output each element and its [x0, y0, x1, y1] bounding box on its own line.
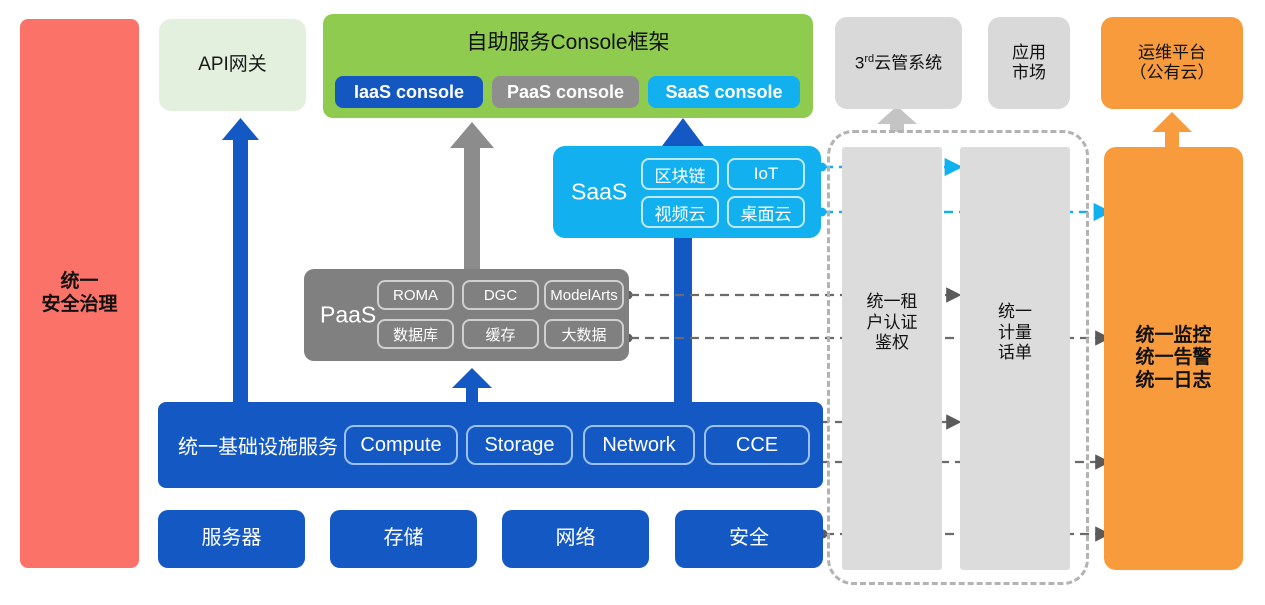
infra-chip-compute-label: Compute — [360, 434, 441, 457]
saas-block-label: SaaS — [571, 179, 627, 206]
shared-column-auth[interactable]: 统一租 户认证 鉴权 — [842, 147, 942, 570]
paas-block[interactable]: PaaS ROMA DGC ModelArts 数据库 缓存 大数据 — [304, 269, 629, 361]
third-party-cloud-mgmt-label: 3rd云管系统 — [855, 53, 942, 74]
paas-chip-cache-label: 缓存 — [485, 324, 515, 345]
paas-chip-dgc[interactable]: DGC — [462, 280, 539, 310]
app-market-label: 应用 市场 — [1012, 43, 1046, 83]
arrow-ops-panel-to-ops-top — [1152, 112, 1192, 148]
shared-column-auth-label: 统一租 户认证 鉴权 — [842, 292, 942, 354]
saas-chip-video-cloud-label: 视频云 — [655, 200, 706, 225]
infra-chip-network-label: Network — [602, 434, 675, 457]
api-gateway-box[interactable]: API网关 — [159, 19, 306, 111]
paas-chip-roma-label: ROMA — [393, 287, 438, 304]
infra-chip-storage-label: Storage — [484, 434, 554, 457]
paas-chip-roma[interactable]: ROMA — [377, 280, 454, 310]
ops-platform-public-cloud-box[interactable]: 运维平台 （公有云） — [1101, 17, 1243, 109]
hardware-box-server-label: 服务器 — [202, 527, 262, 551]
infra-chip-network[interactable]: Network — [583, 425, 695, 465]
console-chip-iaas[interactable]: IaaS console — [335, 76, 483, 108]
console-frame-title: 自助服务Console框架 — [323, 26, 813, 56]
paas-chip-dgc-label: DGC — [484, 287, 517, 304]
third-party-superscript: rd — [864, 53, 874, 65]
third-party-cloud-mgmt-box[interactable]: 3rd云管系统 — [835, 17, 962, 109]
unified-security-governance-panel[interactable]: 统一 安全治理 — [20, 19, 139, 568]
arrow-infra-to-paas — [452, 368, 492, 405]
hardware-box-network-label: 网络 — [556, 527, 596, 551]
paas-chip-bigdata-label: 大数据 — [561, 324, 606, 345]
api-gateway-label: API网关 — [198, 54, 267, 76]
hardware-box-storage[interactable]: 存储 — [330, 510, 477, 568]
saas-chip-blockchain[interactable]: 区块链 — [641, 158, 719, 190]
app-market-box[interactable]: 应用 市场 — [988, 17, 1070, 109]
diagram-canvas: 统一租 户认证 鉴权 统一 计量 话单 统一 安全治理 API网关 自助服务Co… — [0, 0, 1265, 605]
ops-monitoring-panel[interactable]: 统一监控 统一告警 统一日志 — [1104, 147, 1243, 570]
hardware-box-security[interactable]: 安全 — [675, 510, 823, 568]
saas-chip-iot-label: IoT — [754, 164, 779, 184]
saas-chip-video-cloud[interactable]: 视频云 — [641, 196, 719, 228]
paas-chip-database[interactable]: 数据库 — [377, 319, 454, 349]
hardware-box-server[interactable]: 服务器 — [158, 510, 305, 568]
infra-chip-compute[interactable]: Compute — [344, 425, 458, 465]
unified-infrastructure-block[interactable]: 统一基础设施服务 Compute Storage Network CCE — [158, 402, 823, 488]
console-chip-saas[interactable]: SaaS console — [648, 76, 800, 108]
ops-monitoring-label: 统一监控 统一告警 统一日志 — [1135, 325, 1211, 392]
paas-block-label: PaaS — [320, 302, 376, 329]
saas-block[interactable]: SaaS 区块链 IoT 视频云 桌面云 — [553, 146, 821, 238]
arrow-shared-to-third-party — [877, 106, 917, 132]
paas-chip-bigdata[interactable]: 大数据 — [544, 319, 624, 349]
console-chip-paas-label: PaaS console — [507, 82, 624, 103]
infra-chip-cce-label: CCE — [736, 434, 778, 457]
arrow-paas-to-console — [450, 122, 494, 270]
infra-chip-storage[interactable]: Storage — [466, 425, 573, 465]
arrow-infra-to-api-gateway — [222, 118, 259, 405]
ops-platform-public-cloud-label: 运维平台 （公有云） — [1130, 43, 1215, 83]
unified-security-governance-label: 统一 安全治理 — [41, 271, 117, 316]
self-service-console-frame[interactable]: 自助服务Console框架 IaaS console PaaS console … — [323, 14, 813, 118]
paas-chip-modelarts[interactable]: ModelArts — [544, 280, 624, 310]
unified-infrastructure-label: 统一基础设施服务 — [178, 431, 338, 460]
hardware-box-storage-label: 存储 — [384, 527, 424, 551]
hardware-box-security-label: 安全 — [729, 527, 769, 551]
shared-column-metering[interactable]: 统一 计量 话单 — [960, 147, 1070, 570]
console-chip-paas[interactable]: PaaS console — [492, 76, 639, 108]
hardware-box-network[interactable]: 网络 — [502, 510, 649, 568]
saas-chip-blockchain-label: 区块链 — [655, 162, 706, 187]
console-chip-saas-label: SaaS console — [665, 82, 782, 103]
saas-chip-desktop-cloud[interactable]: 桌面云 — [727, 196, 805, 228]
shared-column-metering-label: 统一 计量 话单 — [960, 302, 1070, 364]
console-chip-iaas-label: IaaS console — [354, 82, 464, 103]
paas-chip-database-label: 数据库 — [393, 324, 438, 345]
saas-chip-desktop-cloud-label: 桌面云 — [741, 200, 792, 225]
third-party-prefix: 3 — [855, 53, 864, 72]
paas-chip-cache[interactable]: 缓存 — [462, 319, 539, 349]
paas-chip-modelarts-label: ModelArts — [550, 287, 618, 304]
infra-chip-cce[interactable]: CCE — [704, 425, 810, 465]
saas-chip-iot[interactable]: IoT — [727, 158, 805, 190]
third-party-rest: 云管系统 — [874, 53, 942, 72]
